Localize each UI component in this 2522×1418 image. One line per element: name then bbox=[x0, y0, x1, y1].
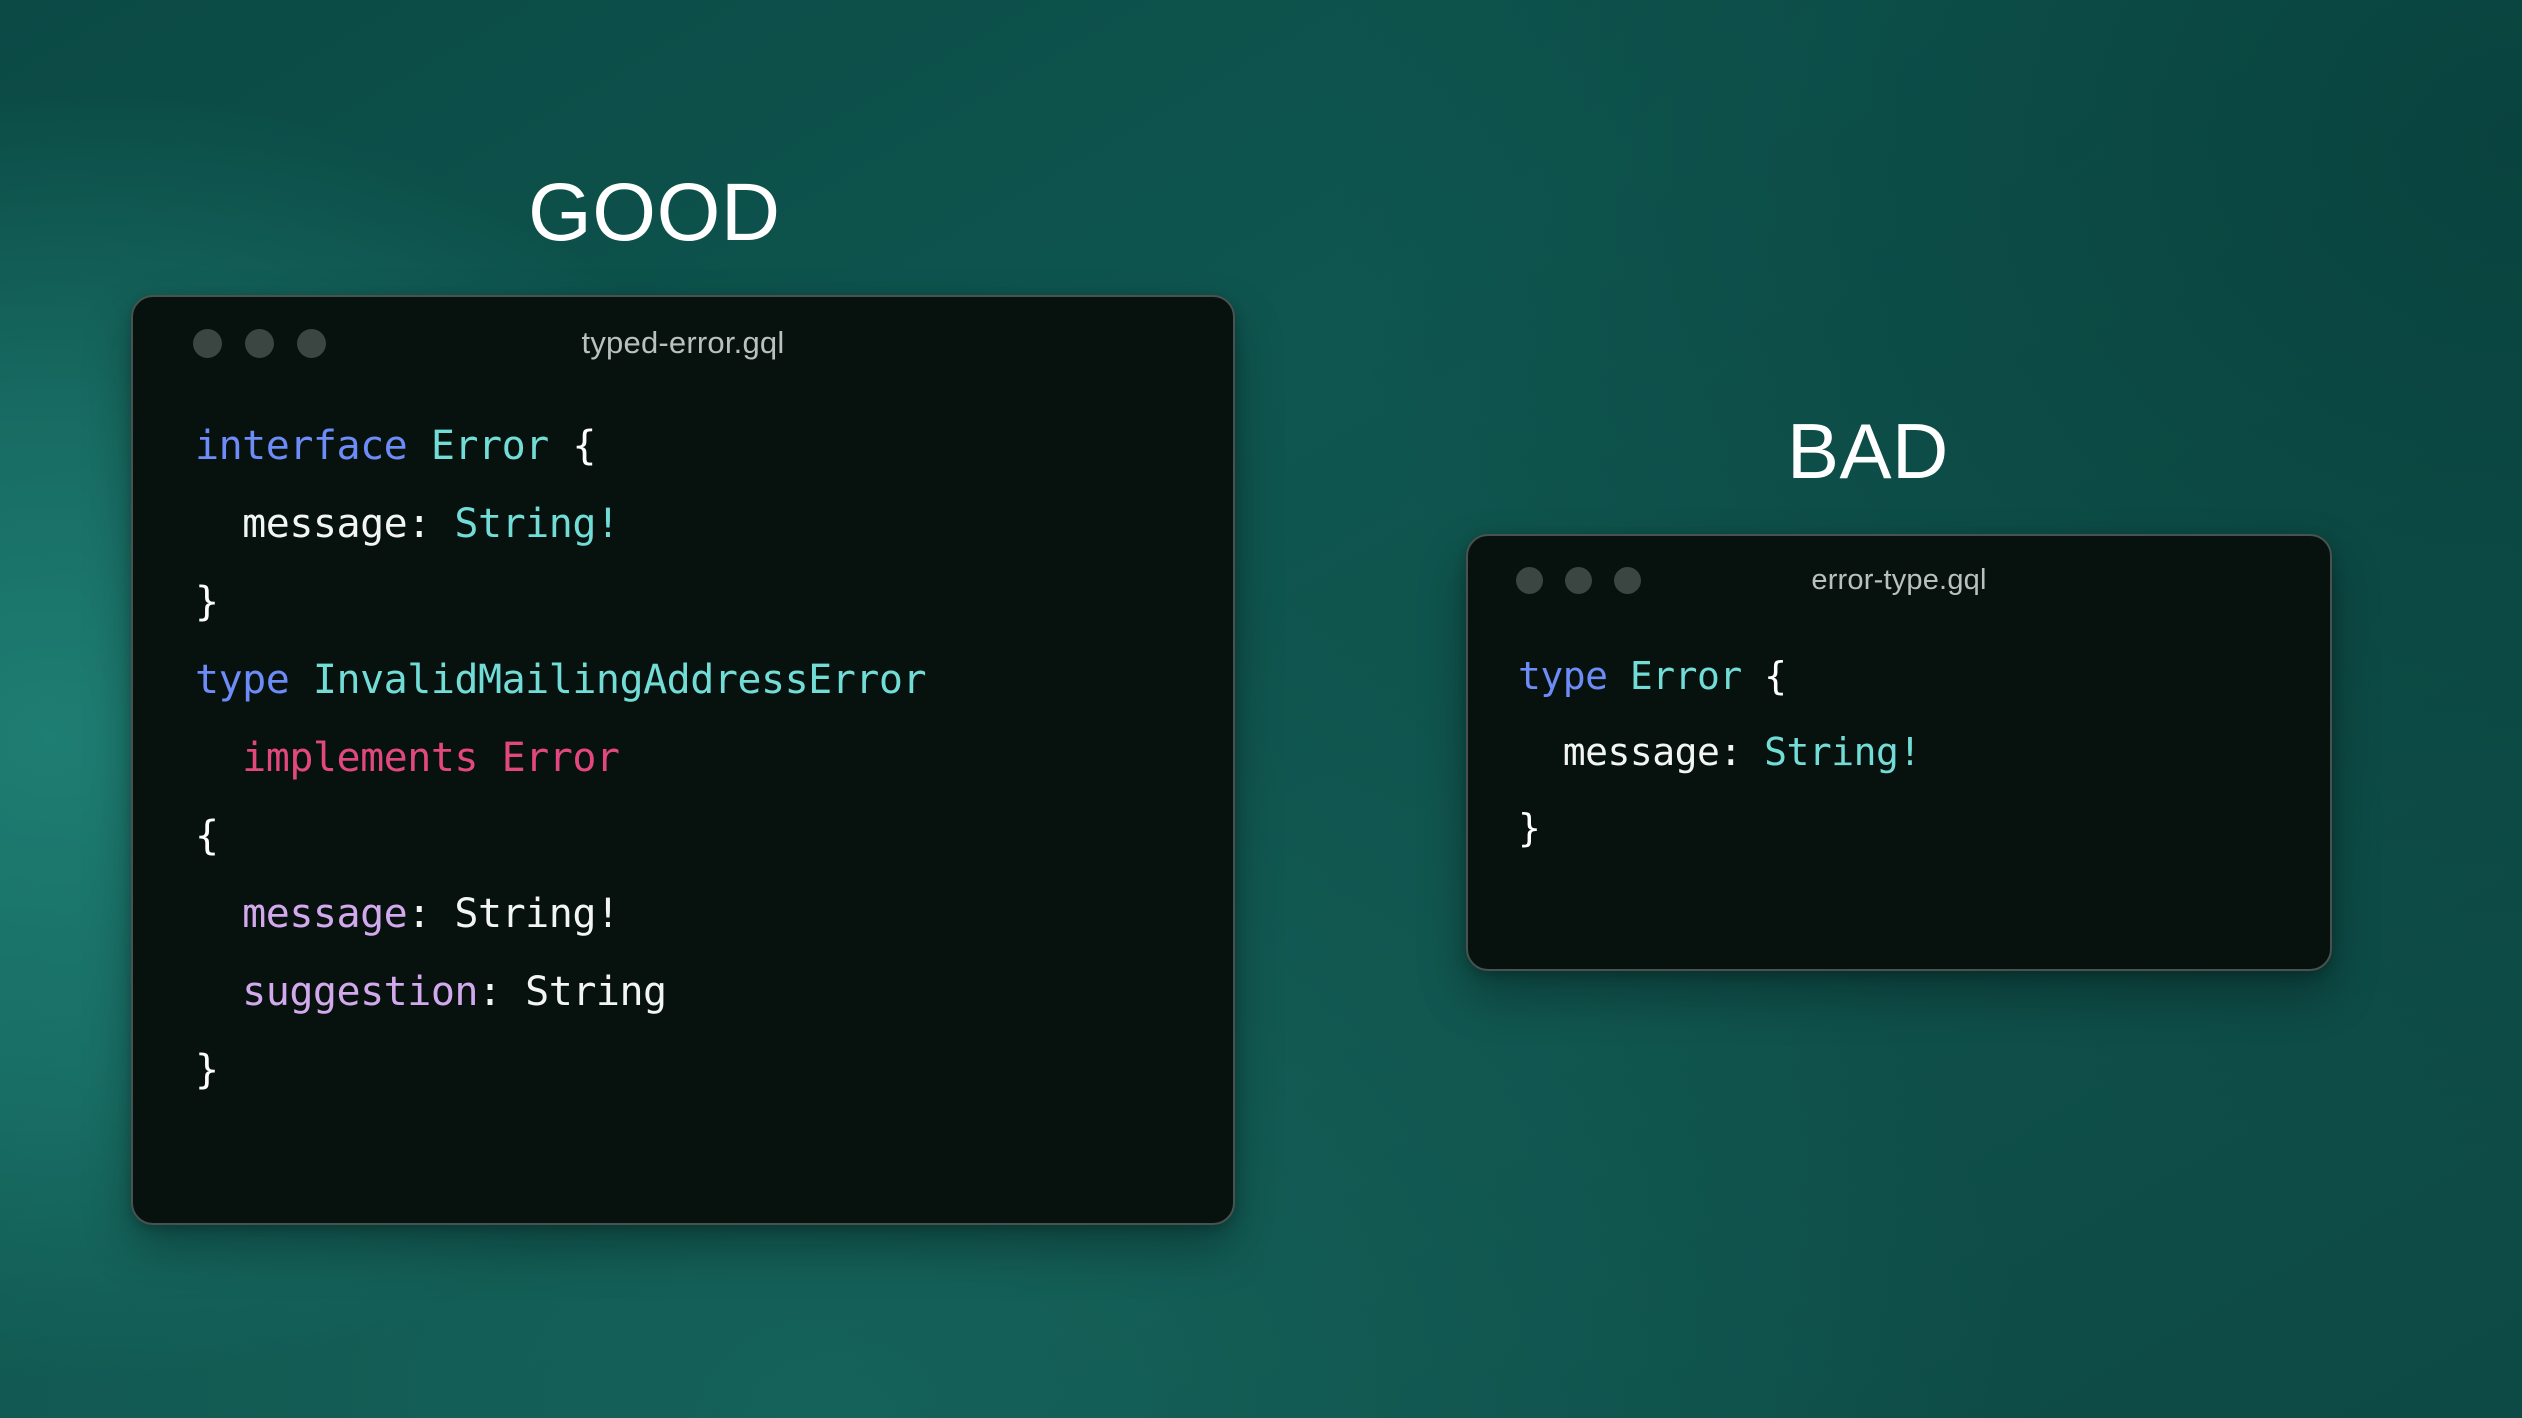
code-token-punctuation: { bbox=[1764, 654, 1786, 698]
code-line: message: String! bbox=[1518, 714, 2330, 790]
window-dot-maximize-icon[interactable] bbox=[1614, 567, 1641, 594]
window-controls-good bbox=[193, 329, 326, 358]
code-token-field-name: message bbox=[195, 891, 407, 937]
window-dot-close-icon[interactable] bbox=[1516, 567, 1543, 594]
comparison-stage: GOOD typed-error.gql interface Error { m… bbox=[0, 0, 2522, 1418]
code-line: message: String! bbox=[195, 875, 1233, 953]
code-card-good: typed-error.gql interface Error { messag… bbox=[131, 295, 1235, 1225]
code-token-field: message: bbox=[1518, 730, 1764, 774]
good-label: GOOD bbox=[528, 172, 781, 254]
code-token-keyword: type bbox=[195, 657, 313, 703]
code-token-field: message: bbox=[195, 501, 454, 547]
code-token-punctuation: { bbox=[572, 423, 596, 469]
card-titlebar-bad: error-type.gql bbox=[1468, 536, 2330, 624]
window-controls-bad bbox=[1516, 567, 1641, 594]
code-token-keyword: type bbox=[1518, 654, 1630, 698]
code-card-bad: error-type.gql type Error { message: Str… bbox=[1466, 534, 2332, 971]
code-line: { bbox=[195, 797, 1233, 875]
code-token-type-name: Error bbox=[1630, 654, 1764, 698]
code-token-scalar: String! bbox=[1764, 730, 1921, 774]
code-token-scalar: : String bbox=[478, 969, 667, 1015]
code-token-keyword: interface bbox=[195, 423, 431, 469]
code-line: type Error { bbox=[1518, 638, 2330, 714]
code-line: } bbox=[195, 563, 1233, 641]
code-token-punctuation: { bbox=[195, 813, 219, 859]
window-dot-close-icon[interactable] bbox=[193, 329, 222, 358]
code-token-punctuation: } bbox=[195, 1047, 219, 1093]
code-token-punctuation: } bbox=[1518, 806, 1540, 850]
window-dot-minimize-icon[interactable] bbox=[245, 329, 274, 358]
code-block-bad: type Error { message: String!} bbox=[1468, 624, 2330, 866]
code-block-good: interface Error { message: String!}type … bbox=[133, 389, 1233, 1109]
code-token-field-name: suggestion bbox=[195, 969, 478, 1015]
code-line: suggestion: String bbox=[195, 953, 1233, 1031]
window-dot-minimize-icon[interactable] bbox=[1565, 567, 1592, 594]
code-token-scalar: String! bbox=[454, 501, 619, 547]
window-dot-maximize-icon[interactable] bbox=[297, 329, 326, 358]
bad-label: BAD bbox=[1787, 412, 1949, 490]
code-line: implements Error bbox=[195, 719, 1233, 797]
code-token-type-name: InvalidMailingAddressError bbox=[313, 657, 926, 703]
code-line: } bbox=[1518, 790, 2330, 866]
code-line: interface Error { bbox=[195, 407, 1233, 485]
code-token-implements: implements Error bbox=[195, 735, 619, 781]
code-line: } bbox=[195, 1031, 1233, 1109]
code-line: message: String! bbox=[195, 485, 1233, 563]
card-titlebar-good: typed-error.gql bbox=[133, 297, 1233, 389]
code-token-punctuation: } bbox=[195, 579, 219, 625]
code-token-type-name: Error bbox=[431, 423, 573, 469]
code-line: type InvalidMailingAddressError bbox=[195, 641, 1233, 719]
code-token-scalar: : String! bbox=[407, 891, 619, 937]
